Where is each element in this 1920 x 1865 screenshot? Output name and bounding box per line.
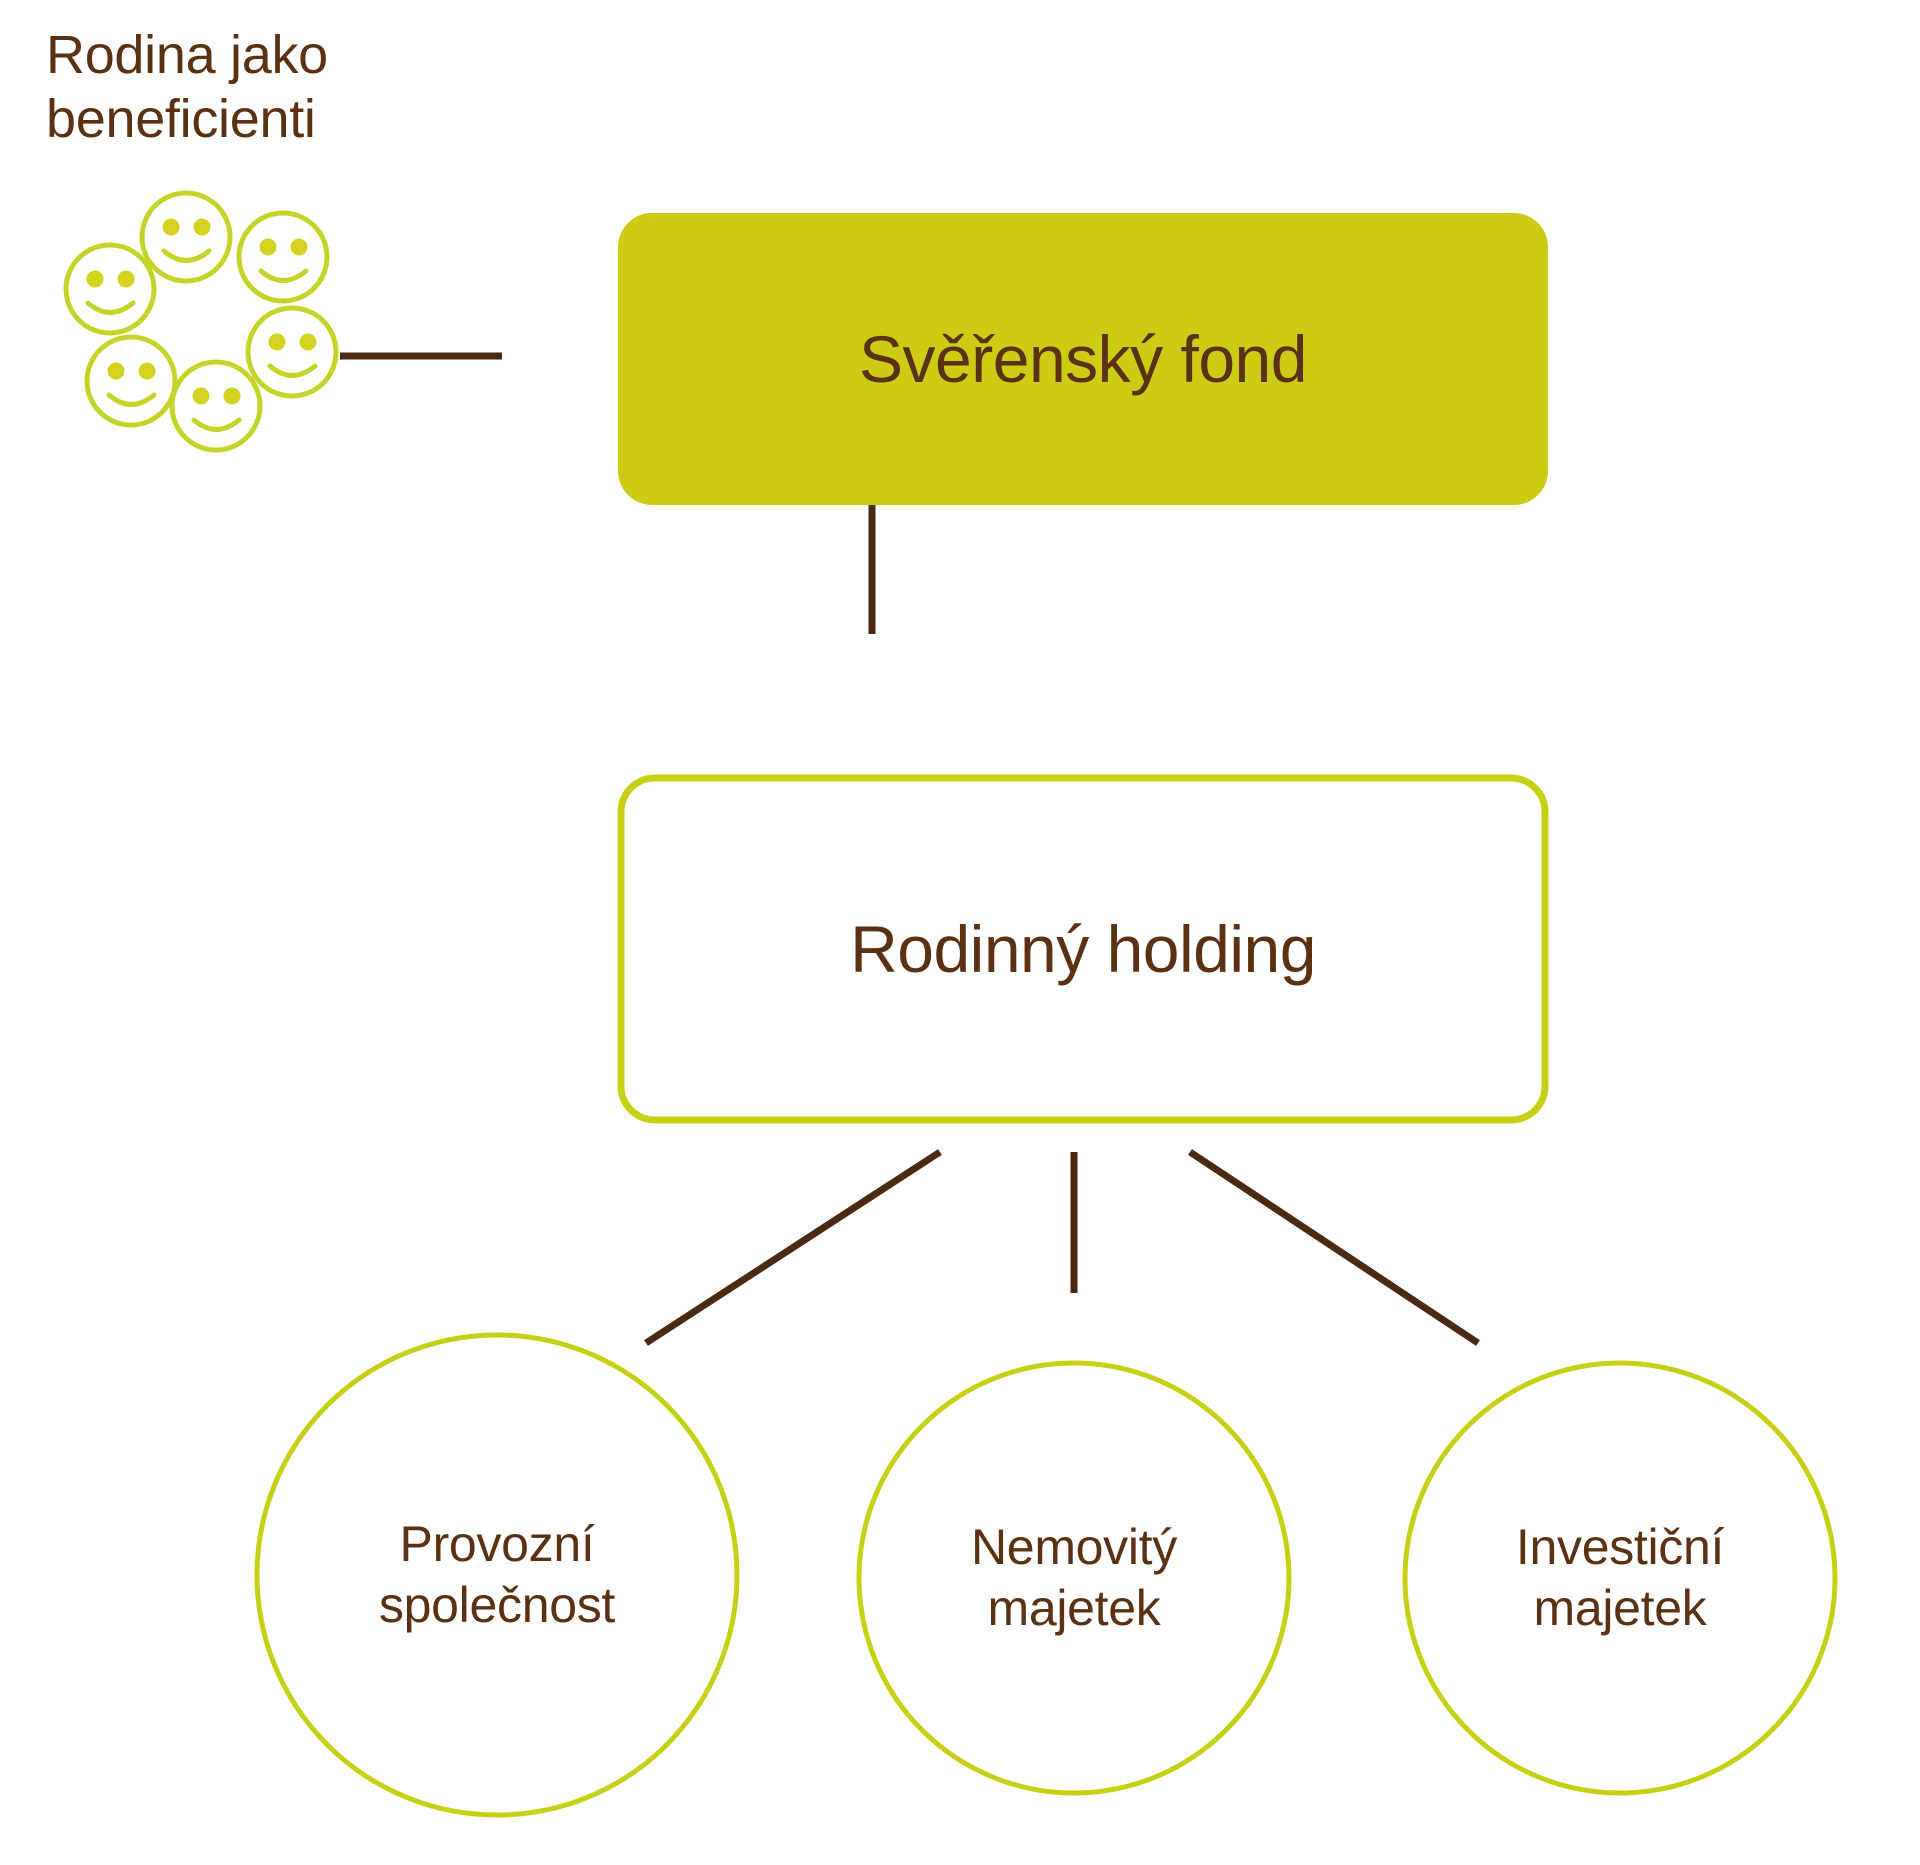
beneficiaries-smiley-cluster <box>66 193 336 450</box>
beneficiaries-caption: Rodina jako beneficienti <box>46 24 328 151</box>
connector-holding-to-asset-0 <box>646 1152 940 1343</box>
smiley-icon <box>142 193 230 281</box>
smiley-icon <box>66 245 154 333</box>
smiley-icon <box>172 362 260 450</box>
diagram-graphics <box>0 0 1920 1865</box>
smiley-icon <box>239 213 327 301</box>
asset-circle-2[interactable] <box>1405 1363 1835 1793</box>
asset-circle-0[interactable] <box>257 1335 737 1815</box>
family-holding-box[interactable] <box>621 778 1545 1120</box>
smiley-icon <box>87 337 175 425</box>
diagram-canvas: Rodina jako beneficienti Svěřenský fond … <box>0 0 1920 1865</box>
trust-fund-box[interactable] <box>618 213 1548 505</box>
connector-holding-to-asset-2 <box>1190 1152 1478 1343</box>
smiley-icon <box>248 308 336 396</box>
asset-circle-1[interactable] <box>859 1363 1289 1793</box>
